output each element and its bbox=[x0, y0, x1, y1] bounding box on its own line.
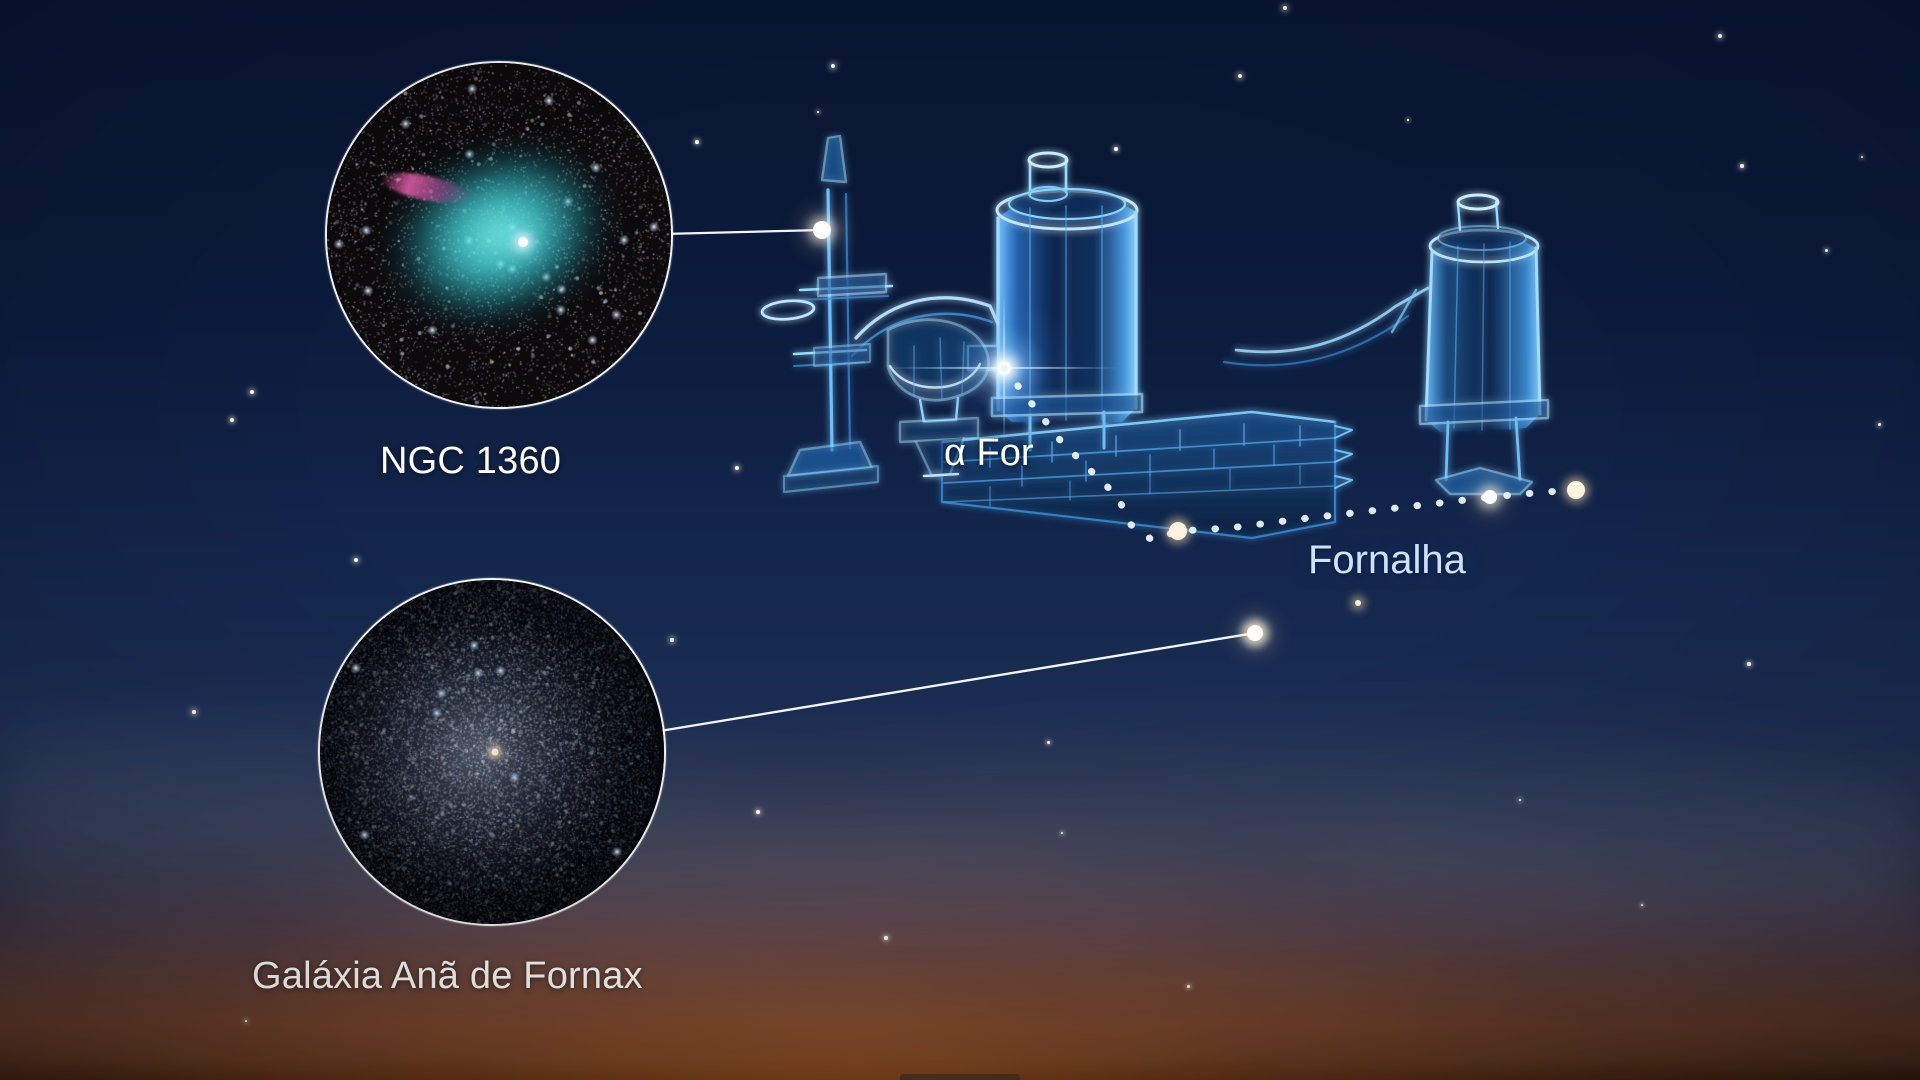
field-star bbox=[670, 638, 673, 641]
ngc1360-image bbox=[325, 61, 673, 409]
field-star bbox=[756, 810, 759, 813]
field-star bbox=[1238, 74, 1242, 78]
callout-target-star bbox=[813, 221, 831, 239]
bottom-marker bbox=[900, 1074, 1020, 1080]
field-star bbox=[1825, 249, 1828, 252]
field-star bbox=[354, 558, 357, 561]
fornax-dwarf-halo bbox=[342, 623, 613, 881]
field-star bbox=[1718, 34, 1722, 38]
field-star bbox=[230, 418, 233, 421]
ngc1360-image-disc[interactable] bbox=[325, 61, 673, 409]
field-star bbox=[1747, 662, 1750, 665]
field-star bbox=[1878, 423, 1881, 426]
field-star bbox=[1740, 164, 1743, 167]
field-star bbox=[250, 390, 254, 394]
callout-caption-ngc1360: NGC 1360 bbox=[380, 440, 561, 483]
callout-target-star bbox=[1247, 625, 1263, 641]
field-star bbox=[695, 140, 698, 143]
star-core bbox=[998, 362, 1011, 375]
field-star bbox=[884, 936, 887, 939]
field-star bbox=[1047, 741, 1050, 744]
constellation-star bbox=[1169, 522, 1187, 540]
furnace-right-vessel bbox=[1420, 195, 1548, 494]
ngc1360-central-star bbox=[518, 237, 528, 247]
field-star bbox=[735, 466, 738, 469]
field-star bbox=[1283, 6, 1287, 10]
constellation-star bbox=[1567, 481, 1585, 499]
constellation-star bbox=[1355, 600, 1361, 606]
sky-scene: NGC 1360 Galáxia Anã de Fornax α For For… bbox=[0, 0, 1920, 1080]
constellation-star bbox=[1483, 490, 1497, 504]
field-star bbox=[192, 710, 196, 714]
fornax-dwarf-image bbox=[318, 578, 666, 926]
constellation-label-fornalha: Fornalha bbox=[1308, 538, 1466, 583]
field-star bbox=[1187, 985, 1190, 988]
fornax-dwarf-center bbox=[492, 749, 499, 756]
callout-caption-fornax-dwarf: Galáxia Anã de Fornax bbox=[252, 955, 643, 998]
fornax-dwarf-image-disc[interactable] bbox=[318, 578, 666, 926]
star-label-alpha-for: α For bbox=[944, 432, 1034, 475]
field-star bbox=[831, 64, 835, 68]
